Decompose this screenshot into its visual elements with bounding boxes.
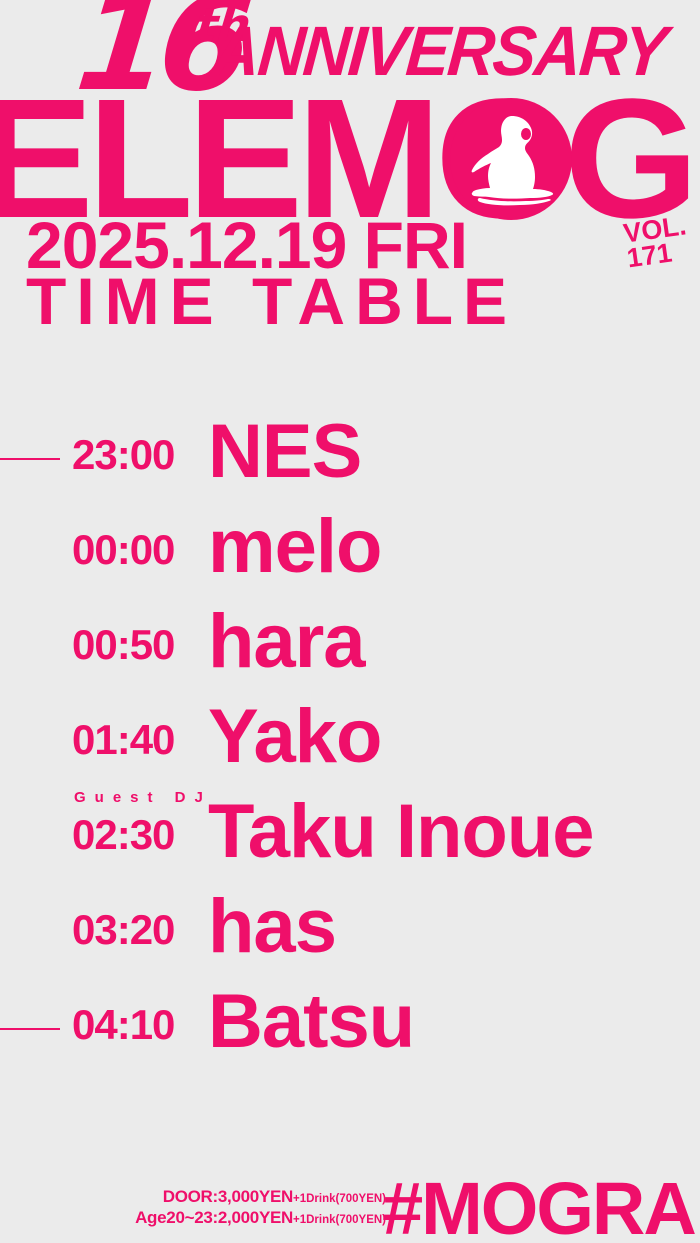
slot-time: 03:20 xyxy=(72,909,174,951)
slot-time: 00:50 xyxy=(72,624,174,666)
volume-value: 171 xyxy=(625,238,691,271)
slot-artist: NES xyxy=(208,414,361,490)
row-rule-line xyxy=(0,1028,60,1030)
slot-artist: Batsu xyxy=(208,984,414,1060)
mole-mascot-icon xyxy=(450,98,572,220)
slot-artist: Yako xyxy=(208,699,381,775)
price-door-row: DOOR:3,000YEN+1Drink(700YEN) xyxy=(114,1186,386,1207)
slot-artist: Taku Inoue xyxy=(208,794,594,870)
price-door-note: +1Drink(700YEN) xyxy=(293,1193,386,1205)
price-age-label: Age20~23:2,000YEN xyxy=(135,1208,293,1227)
price-age-row: Age20~23:2,000YEN+1Drink(700YEN) xyxy=(114,1207,386,1228)
slot-time: 00:00 xyxy=(72,529,174,571)
poster-header: 16 th ANNIVERSARY ELEMOG 2025.12.19 FRI … xyxy=(0,0,700,345)
slot-artist: has xyxy=(208,889,336,965)
poster-footer: DOOR:3,000YEN+1Drink(700YEN) Age20~23:2,… xyxy=(0,1178,700,1243)
timetable-list: 23:00NES00:00melo00:50hara01:40YakoGuest… xyxy=(0,424,700,1089)
slot-artist: melo xyxy=(208,509,381,585)
price-info: DOOR:3,000YEN+1Drink(700YEN) Age20~23:2,… xyxy=(114,1186,386,1229)
slot-time: 02:30 xyxy=(72,814,174,856)
guest-dj-label: Guest DJ xyxy=(74,790,212,805)
slot-time: 04:10 xyxy=(72,1004,174,1046)
slot-artist: hara xyxy=(208,604,365,680)
slot-time: 01:40 xyxy=(72,719,174,761)
timetable-row: Guest DJ02:30Taku Inoue xyxy=(0,804,700,899)
volume-number: VOL. 171 xyxy=(622,213,691,271)
price-door-label: DOOR:3,000YEN xyxy=(163,1187,293,1206)
timetable-row: 04:10Batsu xyxy=(0,994,700,1089)
poster-root: 16 th ANNIVERSARY ELEMOG 2025.12.19 FRI … xyxy=(0,0,700,1243)
slot-time: 23:00 xyxy=(72,434,174,476)
row-rule-line xyxy=(0,458,60,460)
price-age-note: +1Drink(700YEN) xyxy=(293,1214,386,1226)
venue-hashtag: #MOGRA xyxy=(382,1178,695,1243)
section-title: TIME TABLE xyxy=(26,268,517,334)
